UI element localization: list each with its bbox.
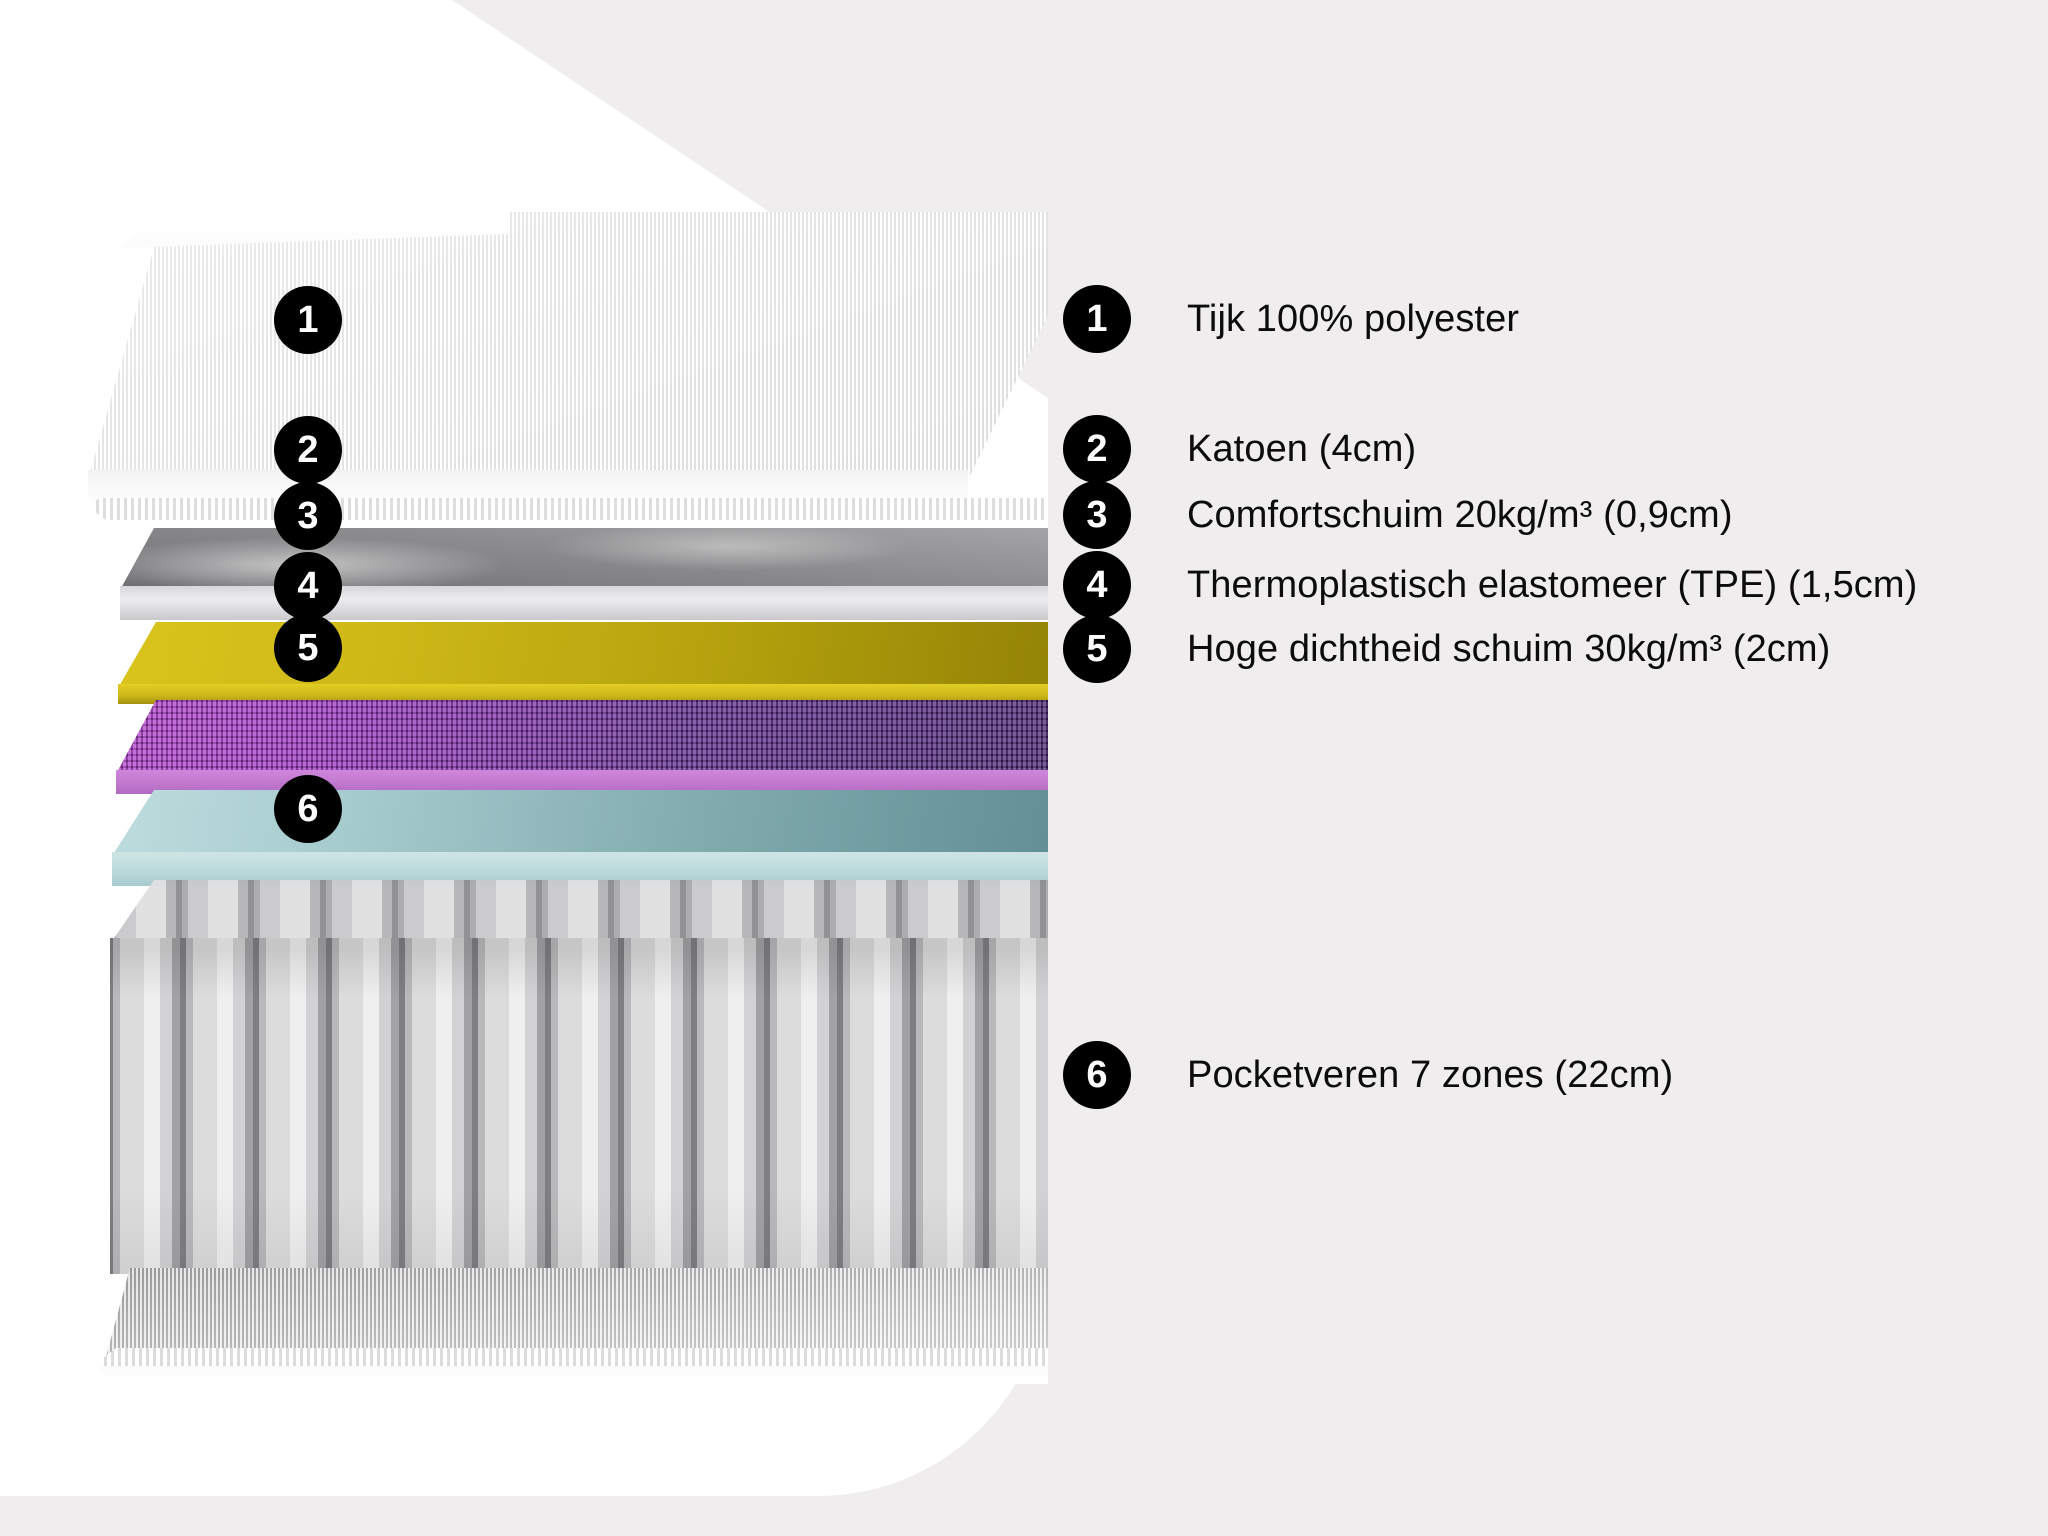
diagram-marker-1: 1 [274,286,342,354]
layer-cover-top-face [88,212,1048,480]
legend-badge-3: 3 [1063,481,1131,549]
legend-label-4: Thermoplastisch elastomeer (TPE) (1,5cm) [1187,564,1917,607]
layer-cotton-top-face [120,528,1048,590]
legend-item-5: 5 Hoge dichtheid schuim 30kg/m³ (2cm) [1063,615,1830,683]
legend-item-3: 3 Comfortschuim 20kg/m³ (0,9cm) [1063,481,1733,549]
legend-label-3: Comfortschuim 20kg/m³ (0,9cm) [1187,494,1733,537]
diagram-marker-3: 3 [274,482,342,550]
diagram-marker-2: 2 [274,416,342,484]
legend-label-1: Tijk 100% polyester [1187,298,1519,341]
legend-badge-6: 6 [1063,1041,1131,1109]
mattress-layer-infographic: 1 2 3 4 5 6 1 Tijk 100% polyester 2 Kato… [0,0,2048,1536]
legend-list: 1 Tijk 100% polyester 2 Katoen (4cm) 3 C… [1063,0,2048,1536]
layer-comfort-foam-top-face [118,622,1048,688]
legend-label-2: Katoen (4cm) [1187,428,1416,471]
legend-label-5: Hoge dichtheid schuim 30kg/m³ (2cm) [1187,628,1830,671]
layer-pocket-springs [110,880,1048,1274]
spring-caps-row [110,880,1048,944]
legend-badge-4: 4 [1063,551,1131,619]
legend-item-4: 4 Thermoplastisch elastomeer (TPE) (1,5c… [1063,551,1917,619]
spring-shading [110,938,1048,1274]
layer-cover-piping [92,498,1048,520]
layer-tpe-top-face [116,700,1048,774]
layer-cotton-front-edge [120,586,1048,620]
layer-hd-foam-top-face [112,790,1048,856]
mattress-cutaway-image: 1 2 3 4 5 6 [0,0,1048,1420]
legend-item-2: 2 Katoen (4cm) [1063,415,1416,483]
legend-item-6: 6 Pocketveren 7 zones (22cm) [1063,1041,1673,1109]
legend-badge-1: 1 [1063,285,1131,353]
legend-badge-5: 5 [1063,615,1131,683]
legend-item-1: 1 Tijk 100% polyester [1063,285,1519,353]
base-border-bottom [100,1366,1048,1384]
diagram-marker-6: 6 [274,775,342,843]
legend-badge-2: 2 [1063,415,1131,483]
legend-label-6: Pocketveren 7 zones (22cm) [1187,1054,1673,1097]
diagram-marker-5: 5 [274,614,342,682]
diagram-marker-4: 4 [274,552,342,620]
